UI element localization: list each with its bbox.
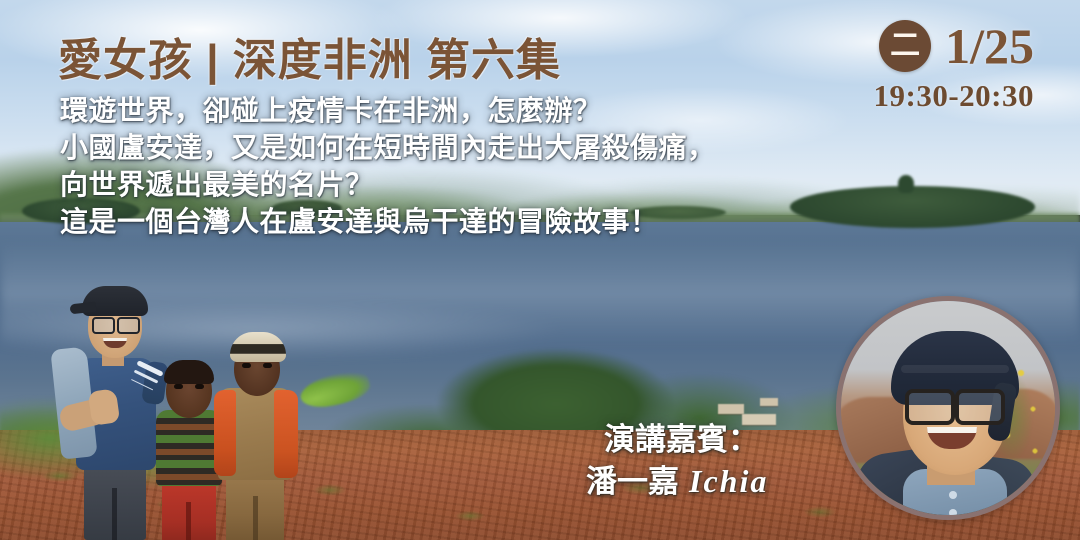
boy2-hat bbox=[230, 332, 286, 362]
speaker-name-zh: 潘一嘉 bbox=[586, 464, 679, 499]
description-line-3: 向世界遞出最美的名片？ bbox=[60, 166, 800, 203]
description-block: 環遊世界，卻碰上疫情卡在非洲，怎麼辦？ 小國盧安達，又是如何在短時間內走出大屠殺… bbox=[60, 92, 800, 240]
event-time: 19:30-20:30 bbox=[874, 78, 1034, 114]
lake-island-large bbox=[790, 186, 1035, 228]
event-date: 1/25 bbox=[945, 21, 1034, 71]
speaker-portrait-avatar bbox=[836, 296, 1060, 520]
event-poster: 愛女孩 | 深度非洲 第六集 環遊世界，卻碰上疫情卡在非洲，怎麼辦？ 小國盧安達… bbox=[0, 0, 1080, 540]
boy2-jacket-left bbox=[214, 390, 236, 476]
boy2-eyes bbox=[242, 363, 272, 368]
description-line-2: 小國盧安達，又是如何在短時間內走出大屠殺傷痛， bbox=[60, 129, 800, 166]
foreground-people-group bbox=[40, 262, 330, 540]
hillside-house bbox=[760, 398, 778, 406]
boy1-striped-shirt bbox=[156, 410, 222, 486]
speaker-label: 演講嘉賓： bbox=[604, 420, 768, 460]
speaker-name-en: Ichia bbox=[689, 463, 768, 499]
boy1-eyes bbox=[174, 384, 204, 389]
hillside-house bbox=[718, 404, 744, 414]
schedule-block: 二 1/25 19:30-20:30 bbox=[874, 20, 1034, 114]
page-title: 愛女孩 | 深度非洲 第六集 bbox=[58, 24, 561, 88]
portrait-glasses bbox=[905, 389, 1005, 417]
man-glasses bbox=[92, 317, 140, 330]
man-cap bbox=[82, 286, 148, 316]
description-line-4: 這是一個台灣人在盧安達與烏干達的冒險故事！ bbox=[60, 203, 800, 240]
boy1-hair bbox=[164, 360, 214, 384]
man-shorts bbox=[84, 458, 146, 540]
speaker-block: 演講嘉賓： 潘一嘉Ichia bbox=[604, 420, 768, 503]
description-line-1: 環遊世界，卻碰上疫情卡在非洲，怎麼辦？ bbox=[60, 92, 800, 129]
speaker-name: 潘一嘉Ichia bbox=[586, 460, 768, 503]
weekday-badge: 二 bbox=[879, 20, 931, 72]
date-row: 二 1/25 bbox=[874, 20, 1034, 72]
boy2-jacket-right bbox=[274, 390, 298, 478]
